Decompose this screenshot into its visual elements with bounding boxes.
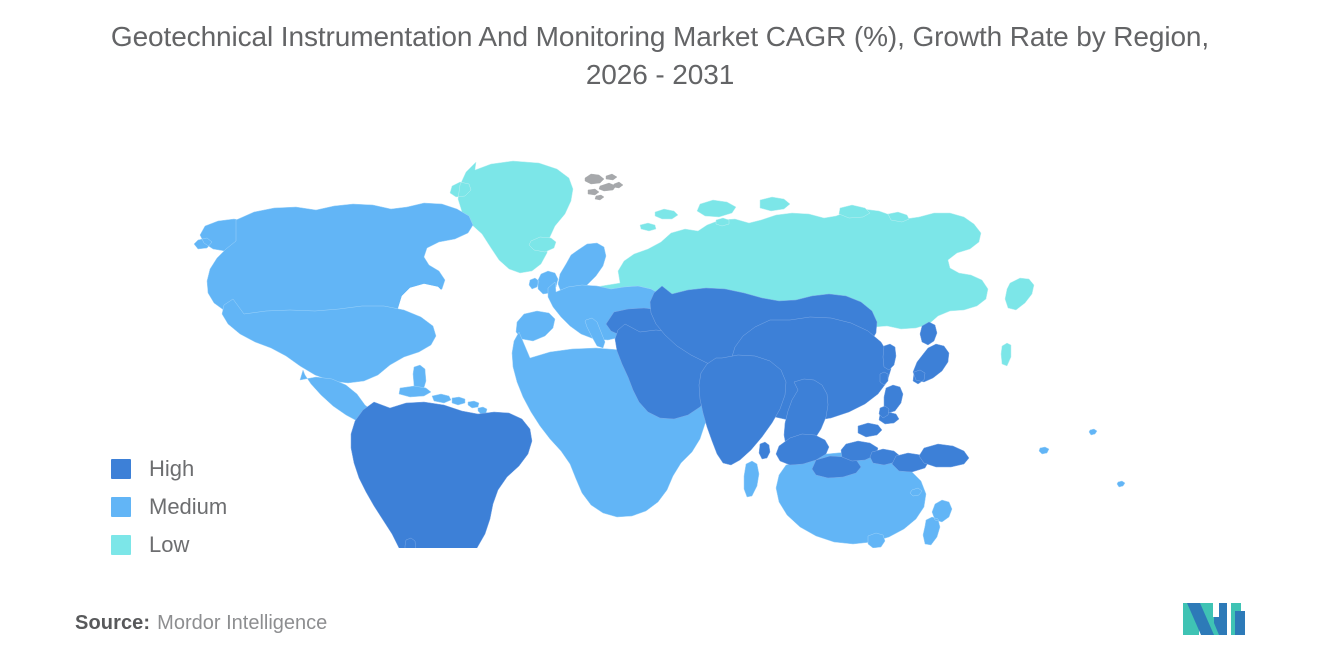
legend-swatch-medium [111,497,131,517]
legend-label-high: High [149,458,194,480]
logo-icon [1183,601,1251,637]
source-line: Source:Mordor Intelligence [75,612,327,635]
page-title-line-1: Geotechnical Instrumentation And Monitor… [60,18,1260,56]
legend-label-low: Low [149,534,189,556]
legend-item-low[interactable]: Low [111,526,341,564]
legend-swatch-low [111,535,131,555]
legend-item-medium[interactable]: Medium [111,488,341,526]
page-title-line-2: 2026 - 2031 [60,56,1260,94]
legend-swatch-high [111,459,131,479]
legend-item-high[interactable]: High [111,450,341,488]
page-title: Geotechnical Instrumentation And Monitor… [60,18,1260,94]
source-value: Mordor Intelligence [157,612,327,634]
mordor-intelligence-logo [1183,601,1251,637]
legend-label-medium: Medium [149,496,227,518]
map-legend: High Medium Low [111,450,341,564]
source-label: Source: [75,612,150,634]
